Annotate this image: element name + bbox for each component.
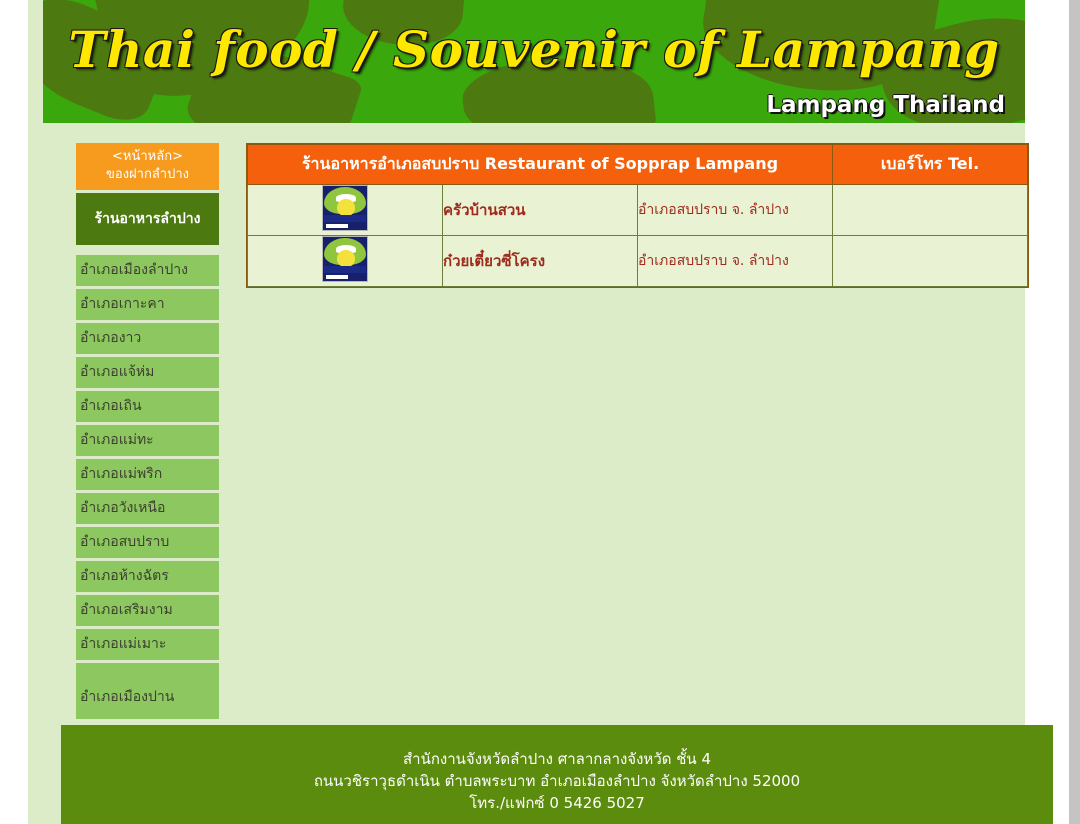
sidebar-spacer xyxy=(76,245,219,255)
chef-face-icon xyxy=(337,250,355,267)
sidebar-item-hang-chat[interactable]: อำเภอห้างฉัตร xyxy=(76,561,219,592)
restaurant-table-container: ร้านอาหารอำเภอสบปราบ Restaurant of Soppr… xyxy=(246,143,1029,288)
table-row[interactable]: ก๋วยเตี๋ยวซี่โครง อำเภอสบปราบ จ. ลำปาง xyxy=(248,236,1028,287)
sidebar-nav: <หน้าหลัก> ของฝากลำปาง ร้านอาหารลำปาง อำ… xyxy=(76,143,219,722)
sidebar-item-home[interactable]: <หน้าหลัก> ของฝากลำปาง xyxy=(76,143,219,190)
vertical-scrollbar[interactable] xyxy=(1069,0,1080,824)
page-canvas: Thai food / Souvenir of Lampang Lampang … xyxy=(28,0,1025,824)
logo-bar xyxy=(326,275,348,279)
site-banner: Thai food / Souvenir of Lampang Lampang … xyxy=(43,0,1025,123)
sidebar-item-ngao[interactable]: อำเภองาว xyxy=(76,323,219,354)
table-header-tel: เบอร์โทร Tel. xyxy=(833,145,1028,185)
restaurant-logo-icon[interactable] xyxy=(322,185,368,231)
site-footer: สำนักงานจังหวัดลำปาง ศาลากลางจังหวัด ชั้… xyxy=(61,725,1053,824)
restaurant-location-cell: อำเภอสบปราบ จ. ลำปาง xyxy=(638,236,833,287)
restaurant-name-cell[interactable]: ครัวบ้านสวน xyxy=(443,185,638,236)
restaurant-location: อำเภอสบปราบ จ. ลำปาง xyxy=(638,253,789,269)
restaurant-name: ครัวบ้านสวน xyxy=(443,201,526,219)
restaurant-location-cell: อำเภอสบปราบ จ. ลำปาง xyxy=(638,185,833,236)
chef-face-icon xyxy=(337,199,355,216)
restaurant-name: ก๋วยเตี๋ยวซี่โครง xyxy=(443,252,545,270)
sidebar-item-mueang-lampang[interactable]: อำเภอเมืองลำปาง xyxy=(76,255,219,286)
sidebar-item-chae-hom[interactable]: อำเภอแจ้ห่ม xyxy=(76,357,219,388)
sidebar-home-line1: <หน้าหลัก> xyxy=(80,148,215,166)
restaurant-logo-icon[interactable] xyxy=(322,236,368,282)
restaurant-tel-cell xyxy=(833,185,1028,236)
logo-band xyxy=(324,266,366,273)
sidebar-item-mueang-pan[interactable]: อำเภอเมืองปาน xyxy=(76,663,219,719)
footer-line-phone: โทร./แฟกซ์ 0 5426 5027 xyxy=(61,792,1053,814)
sidebar-home-line2: ของฝากลำปาง xyxy=(80,166,215,184)
sidebar-item-sop-prap[interactable]: อำเภอสบปราบ xyxy=(76,527,219,558)
footer-line-address: ถนนวชิราวุธดำเนิน ตำบลพระบาท อำเภอเมืองล… xyxy=(61,770,1053,792)
banner-subtitle: Lampang Thailand xyxy=(766,92,1005,118)
table-header-restaurants: ร้านอาหารอำเภอสบปราบ Restaurant of Soppr… xyxy=(248,145,833,185)
sidebar-item-thoen[interactable]: อำเภอเถิน xyxy=(76,391,219,422)
restaurant-thumbnail-cell[interactable] xyxy=(248,185,443,236)
table-header-row: ร้านอาหารอำเภอสบปราบ Restaurant of Soppr… xyxy=(248,145,1028,185)
sidebar-item-mae-tha[interactable]: อำเภอแม่ทะ xyxy=(76,425,219,456)
restaurant-name-cell[interactable]: ก๋วยเตี๋ยวซี่โครง xyxy=(443,236,638,287)
logo-bar xyxy=(326,224,348,228)
sidebar-item-wang-nuea[interactable]: อำเภอวังเหนือ xyxy=(76,493,219,524)
browser-viewport: Thai food / Souvenir of Lampang Lampang … xyxy=(0,0,1080,824)
footer-line-office: สำนักงานจังหวัดลำปาง ศาลากลางจังหวัด ชั้… xyxy=(61,748,1053,770)
sidebar-item-mae-mo[interactable]: อำเภอแม่เมาะ xyxy=(76,629,219,660)
restaurant-tel-cell xyxy=(833,236,1028,287)
sidebar-item-ko-kha[interactable]: อำเภอเกาะคา xyxy=(76,289,219,320)
banner-title: Thai food / Souvenir of Lampang xyxy=(43,20,1025,79)
table-row[interactable]: ครัวบ้านสวน อำเภอสบปราบ จ. ลำปาง xyxy=(248,185,1028,236)
sidebar-item-restaurants-active[interactable]: ร้านอาหารลำปาง xyxy=(76,193,219,245)
restaurant-table: ร้านอาหารอำเภอสบปราบ Restaurant of Soppr… xyxy=(247,144,1028,287)
logo-band xyxy=(324,215,366,222)
restaurant-location: อำเภอสบปราบ จ. ลำปาง xyxy=(638,202,789,218)
sidebar-item-soem-ngam[interactable]: อำเภอเสริมงาม xyxy=(76,595,219,626)
restaurant-thumbnail-cell[interactable] xyxy=(248,236,443,287)
sidebar-item-mae-phrik[interactable]: อำเภอแม่พริก xyxy=(76,459,219,490)
